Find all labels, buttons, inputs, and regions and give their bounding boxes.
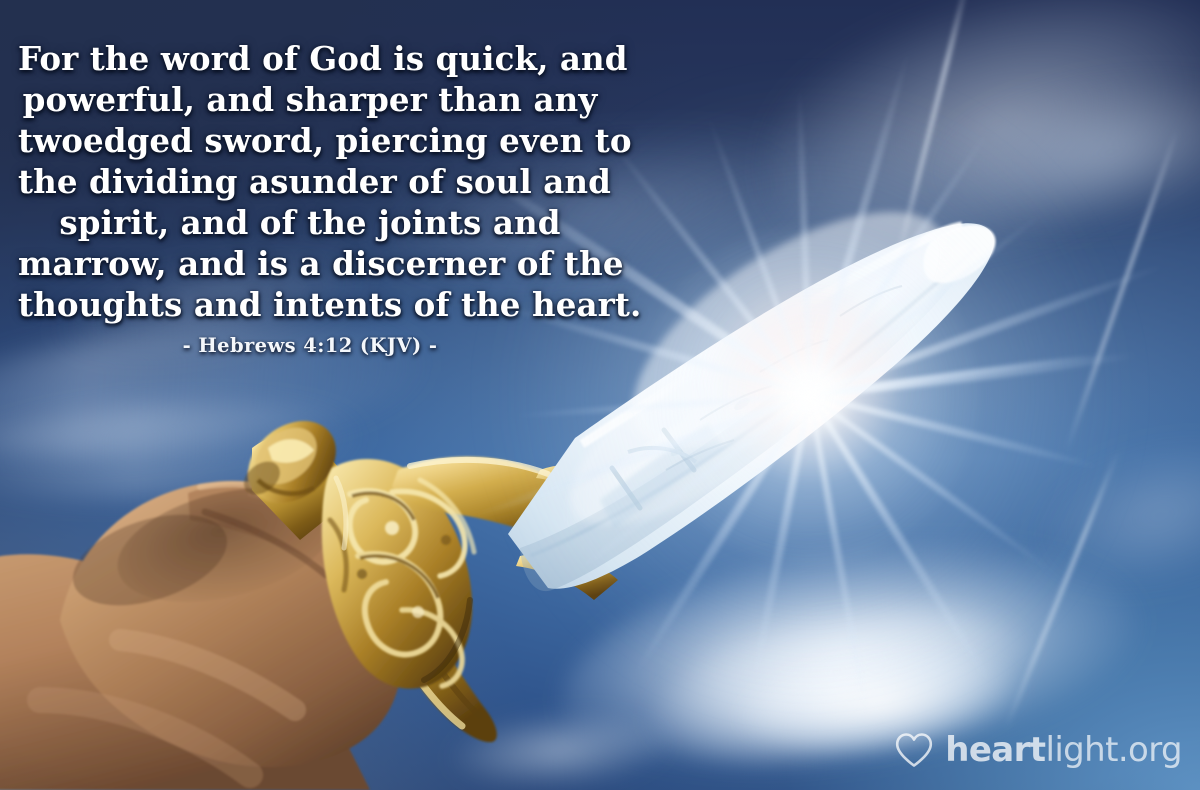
sky-lower-left-haze bbox=[0, 379, 540, 790]
verse-line: thoughts and intents of the heart. bbox=[18, 284, 602, 325]
verse-line: the dividing asunder of soul and bbox=[18, 161, 602, 202]
verse-line: powerful, and sharper than any bbox=[18, 79, 602, 120]
verse-line: marrow, and is a discerner of the bbox=[18, 243, 602, 284]
verse-text: For the word of God is quick, and powerf… bbox=[0, 38, 620, 325]
logo-word-light: light.org bbox=[1045, 730, 1182, 770]
verse-line: twoedged sword, piercing even to bbox=[18, 120, 602, 161]
verse-block: For the word of God is quick, and powerf… bbox=[0, 38, 620, 357]
heartlight-logo[interactable]: heartlight.org bbox=[894, 732, 1182, 768]
verse-line: spirit, and of the joints and bbox=[18, 202, 602, 243]
heart-outline-icon bbox=[894, 732, 934, 768]
scripture-image-canvas: For the word of God is quick, and powerf… bbox=[0, 0, 1200, 790]
sky-lower-right-glow bbox=[456, 356, 1200, 790]
verse-line: For the word of God is quick, and bbox=[18, 38, 602, 79]
verse-reference: - Hebrews 4:12 (KJV) - bbox=[0, 334, 620, 357]
logo-word-bold: heart bbox=[945, 730, 1045, 770]
logo-wordmark: heartlight.org bbox=[945, 733, 1182, 767]
